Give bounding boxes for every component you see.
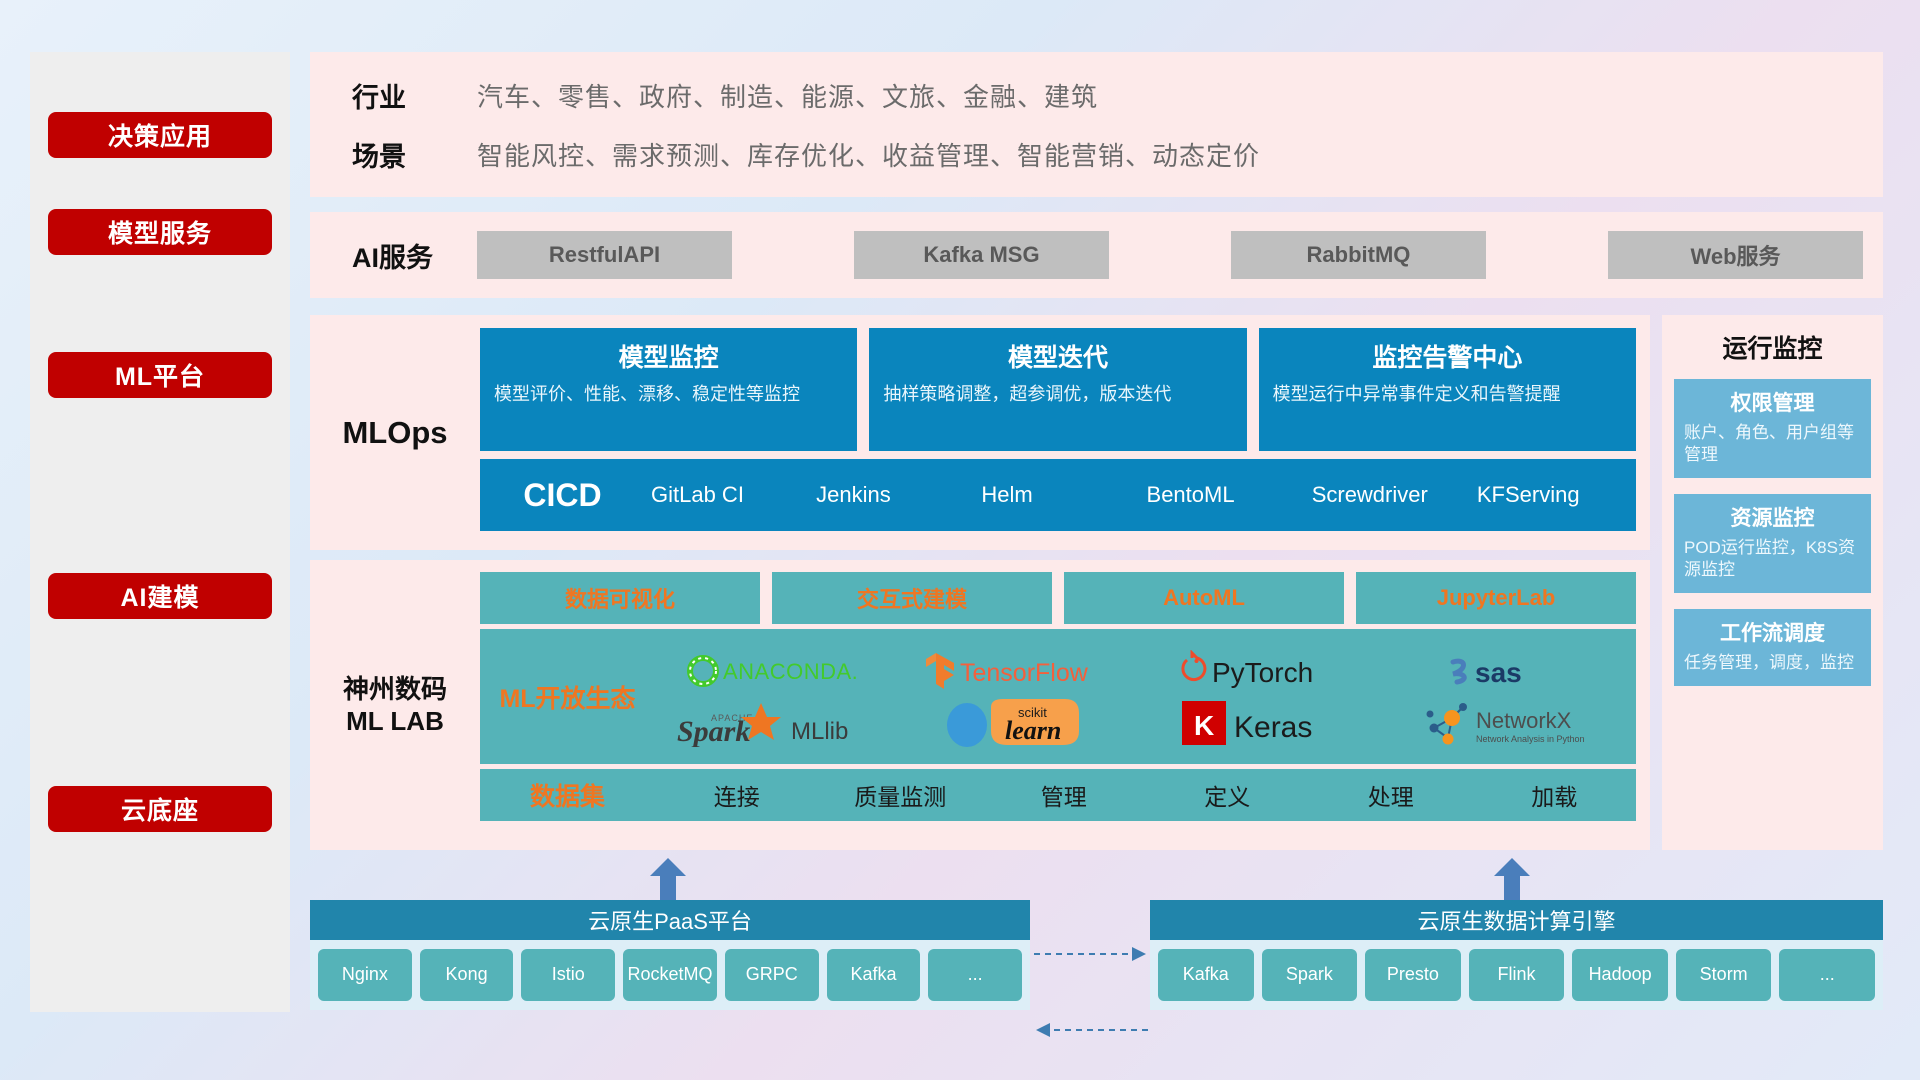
cicd-item-jenkins[interactable]: Jenkins [810, 482, 975, 507]
dataset-title: 数据集 [480, 777, 655, 813]
dataset-item-quality[interactable]: 质量监测 [819, 778, 983, 812]
mlops-card-model-iteration[interactable]: 模型迭代 抽样策略调整，超参调优，版本迭代 [869, 328, 1246, 451]
spark-mllib-logo: APACHE Spark MLlib [673, 697, 883, 749]
tool-chip-jupyterlab[interactable]: JupyterLab [1356, 572, 1636, 624]
svg-text:K: K [1194, 710, 1214, 741]
svg-text:MLlib: MLlib [791, 718, 848, 745]
cicd-item-gitlab-ci[interactable]: GitLab CI [645, 482, 810, 507]
ml-open-ecosystem-title: ML开放生态 [480, 679, 655, 715]
card-desc: 模型运行中异常事件定义和告警提醒 [1273, 382, 1622, 406]
rail-chip-decision-app[interactable]: 决策应用 [48, 112, 272, 158]
cloud-native-data-engine-title: 云原生数据计算引擎 [1150, 900, 1883, 940]
rail-chip-cloud-base[interactable]: 云底座 [48, 786, 272, 832]
cicd-bar: CICD GitLab CI Jenkins Helm BentoML Scre… [480, 459, 1636, 531]
svg-text:PyTorch: PyTorch [1212, 657, 1313, 688]
ml-lab-panel: 神州数码 ML LAB 数据可视化 交互式建模 AutoML JupyterLa… [310, 560, 1650, 850]
rail-chip-model-service[interactable]: 模型服务 [48, 209, 272, 255]
tensorflow-logo: TensorFlow [920, 645, 1125, 697]
mlops-card-alert-center[interactable]: 监控告警中心 模型运行中异常事件定义和告警提醒 [1259, 328, 1636, 451]
industry-label: 行业 [352, 76, 477, 115]
cloud-chip-rocketmq[interactable]: RocketMQ [623, 949, 717, 1001]
mlops-panel: MLOps 模型监控 模型评价、性能、漂移、稳定性等监控 模型迭代 抽样策略调整… [310, 315, 1650, 550]
ai-service-chip-kafka-msg[interactable]: Kafka MSG [854, 231, 1109, 279]
bidirectional-dashed-link [1032, 930, 1150, 1050]
run-monitor-panel: 运行监控 权限管理 账户、角色、用户组等管理 资源监控 POD运行监控，K8S资… [1662, 315, 1883, 850]
industry-values: 汽车、零售、政府、制造、能源、文旅、金融、建筑 [477, 77, 1098, 114]
card-desc: 模型评价、性能、漂移、稳定性等监控 [494, 382, 843, 406]
cloud-native-paas-chip-row: Nginx Kong Istio RocketMQ GRPC Kafka ... [310, 940, 1030, 1010]
dataset-item-load[interactable]: 加载 [1473, 778, 1637, 812]
data-chip-kafka[interactable]: Kafka [1158, 949, 1254, 1001]
cicd-item-bentoml[interactable]: BentoML [1141, 482, 1306, 507]
cloud-chip-istio[interactable]: Istio [521, 949, 615, 1001]
ml-lab-label-line2: ML LAB [346, 705, 444, 738]
ai-service-chip-rabbitmq[interactable]: RabbitMQ [1231, 231, 1486, 279]
ai-service-chip-restfulapi[interactable]: RestfulAPI [477, 231, 732, 279]
cloud-native-paas-group: 云原生PaaS平台 Nginx Kong Istio RocketMQ GRPC… [310, 900, 1030, 1010]
svg-text:Network Analysis in Python: Network Analysis in Python [1476, 734, 1585, 744]
data-chip-spark[interactable]: Spark [1262, 949, 1358, 1001]
svg-text:ANACONDA.: ANACONDA. [723, 659, 858, 684]
monitor-card-resource[interactable]: 资源监控 POD运行监控，K8S资源监控 [1674, 494, 1871, 593]
rail-chip-ai-modeling[interactable]: AI建模 [48, 573, 272, 619]
card-desc: 任务管理，调度，监控 [1684, 652, 1861, 674]
cloud-chip-more-left[interactable]: ... [928, 949, 1022, 1001]
ai-service-chip-track: RestfulAPI Kafka MSG RabbitMQ Web服务 [477, 231, 1883, 279]
cicd-item-screwdriver[interactable]: Screwdriver [1306, 482, 1471, 507]
monitor-card-workflow[interactable]: 工作流调度 任务管理，调度，监控 [1674, 609, 1871, 686]
dataset-row: 数据集 连接 质量监测 管理 定义 处理 加载 [480, 769, 1636, 821]
ml-lab-tool-row: 数据可视化 交互式建模 AutoML JupyterLab [480, 572, 1636, 624]
card-title: 工作流调度 [1684, 617, 1861, 647]
card-desc: 账户、角色、用户组等管理 [1684, 422, 1861, 466]
tool-chip-interactive-modeling[interactable]: 交互式建模 [772, 572, 1052, 624]
svg-text:learn: learn [1005, 716, 1061, 745]
scenario-row: 场景 智能风控、需求预测、库存优化、收益管理、智能营销、动态定价 [352, 135, 1883, 174]
ml-open-ecosystem-row: ML开放生态 ANACONDA. [480, 629, 1636, 764]
cicd-title: CICD [480, 477, 645, 514]
data-chip-more-right[interactable]: ... [1779, 949, 1875, 1001]
data-chip-hadoop[interactable]: Hadoop [1572, 949, 1668, 1001]
data-chip-storm[interactable]: Storm [1676, 949, 1772, 1001]
tool-chip-data-visualization[interactable]: 数据可视化 [480, 572, 760, 624]
cloud-native-data-engine-group: 云原生数据计算引擎 Kafka Spark Presto Flink Hadoo… [1150, 900, 1883, 1010]
ml-lab-label: 神州数码 ML LAB [310, 572, 480, 838]
card-title: 监控告警中心 [1273, 338, 1622, 374]
card-title: 模型迭代 [883, 338, 1232, 374]
cloud-chip-grpc[interactable]: GRPC [725, 949, 819, 1001]
ai-service-panel: AI服务 RestfulAPI Kafka MSG RabbitMQ Web服务 [310, 212, 1883, 298]
tool-chip-automl[interactable]: AutoML [1064, 572, 1344, 624]
svg-text:sas: sas [1475, 657, 1522, 688]
run-monitor-title: 运行监控 [1674, 329, 1871, 365]
industry-row: 行业 汽车、零售、政府、制造、能源、文旅、金融、建筑 [352, 76, 1883, 115]
architecture-diagram: 决策应用 模型服务 ML平台 AI建模 云底座 行业 汽车、零售、政府、制造、能… [0, 0, 1920, 1080]
cloud-chip-kafka[interactable]: Kafka [827, 949, 921, 1001]
card-desc: POD运行监控，K8S资源监控 [1684, 537, 1861, 581]
ai-service-label: AI服务 [352, 236, 477, 275]
rail-chip-ml-platform[interactable]: ML平台 [48, 352, 272, 398]
cicd-item-kfserving[interactable]: KFServing [1471, 482, 1636, 507]
card-title: 模型监控 [494, 338, 843, 374]
ml-lab-label-line1: 神州数码 [343, 673, 447, 706]
card-title: 权限管理 [1684, 387, 1861, 417]
dataset-item-manage[interactable]: 管理 [982, 778, 1146, 812]
keras-logo: K Keras [1178, 697, 1358, 749]
dataset-item-define[interactable]: 定义 [1146, 778, 1310, 812]
card-title: 资源监控 [1684, 502, 1861, 532]
dataset-item-connect[interactable]: 连接 [655, 778, 819, 812]
svg-text:Spark: Spark [677, 715, 750, 747]
mlops-card-group: 模型监控 模型评价、性能、漂移、稳定性等监控 模型迭代 抽样策略调整，超参调优，… [480, 328, 1636, 451]
layer-label-rail: 决策应用 模型服务 ML平台 AI建模 云底座 [30, 52, 290, 1012]
card-desc: 抽样策略调整，超参调优，版本迭代 [883, 382, 1232, 406]
cloud-chip-kong[interactable]: Kong [420, 949, 514, 1001]
sas-logo: sas [1443, 645, 1583, 697]
scikit-learn-logo: scikit learn [933, 697, 1113, 749]
pytorch-logo: PyTorch [1178, 645, 1358, 697]
scenario-values: 智能风控、需求预测、库存优化、收益管理、智能营销、动态定价 [477, 136, 1260, 173]
anaconda-logo: ANACONDA. [683, 645, 873, 697]
monitor-card-permission[interactable]: 权限管理 账户、角色、用户组等管理 [1674, 379, 1871, 478]
decision-application-panel: 行业 汽车、零售、政府、制造、能源、文旅、金融、建筑 场景 智能风控、需求预测、… [310, 52, 1883, 197]
svg-text:TensorFlow: TensorFlow [960, 659, 1089, 687]
svg-text:Keras: Keras [1234, 711, 1312, 744]
cicd-item-helm[interactable]: Helm [975, 482, 1140, 507]
mlops-card-model-monitoring[interactable]: 模型监控 模型评价、性能、漂移、稳定性等监控 [480, 328, 857, 451]
ai-service-chip-web-service[interactable]: Web服务 [1608, 231, 1863, 279]
data-chip-flink[interactable]: Flink [1469, 949, 1565, 1001]
data-chip-presto[interactable]: Presto [1365, 949, 1461, 1001]
mlops-label: MLOps [310, 328, 480, 537]
dataset-item-process[interactable]: 处理 [1309, 778, 1473, 812]
scenario-label: 场景 [352, 135, 477, 174]
networkx-logo: NetworkX Network Analysis in Python [1418, 697, 1608, 749]
cloud-chip-nginx[interactable]: Nginx [318, 949, 412, 1001]
svg-text:NetworkX: NetworkX [1476, 708, 1572, 733]
cloud-native-data-engine-chip-row: Kafka Spark Presto Flink Hadoop Storm ..… [1150, 940, 1883, 1010]
cloud-native-paas-title: 云原生PaaS平台 [310, 900, 1030, 940]
